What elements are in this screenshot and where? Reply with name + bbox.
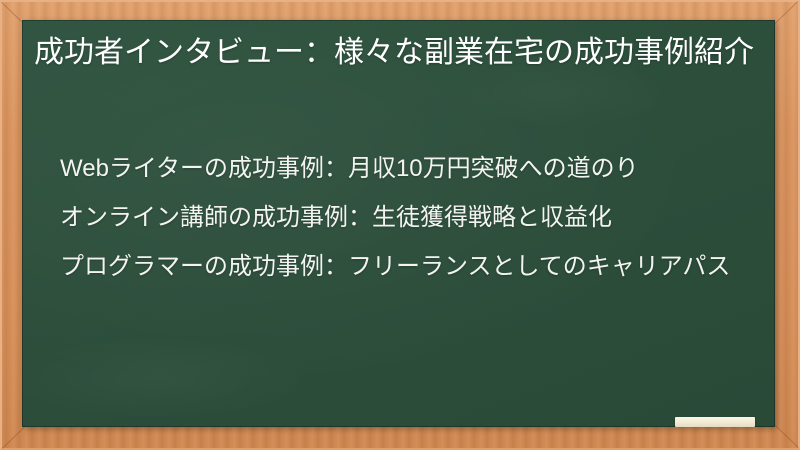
list-item: オンライン講師の成功事例：生徒獲得戦略と収益化 — [34, 199, 770, 236]
chalkboard-surface: 成功者インタビュー：様々な副業在宅の成功事例紹介 Webライターの成功事例：月収… — [22, 20, 775, 427]
list-item: プログラマーの成功事例：フリーランスとしてのキャリアパス — [34, 248, 770, 285]
chalk-stick-icon — [675, 417, 755, 427]
topic-list: Webライターの成功事例：月収10万円突破への道のり オンライン講師の成功事例：… — [34, 150, 770, 297]
blackboard-slide: 成功者インタビュー：様々な副業在宅の成功事例紹介 Webライターの成功事例：月収… — [0, 0, 800, 450]
page-title: 成功者インタビュー：様々な副業在宅の成功事例紹介 — [34, 30, 770, 75]
list-item: Webライターの成功事例：月収10万円突破への道のり — [34, 150, 770, 187]
